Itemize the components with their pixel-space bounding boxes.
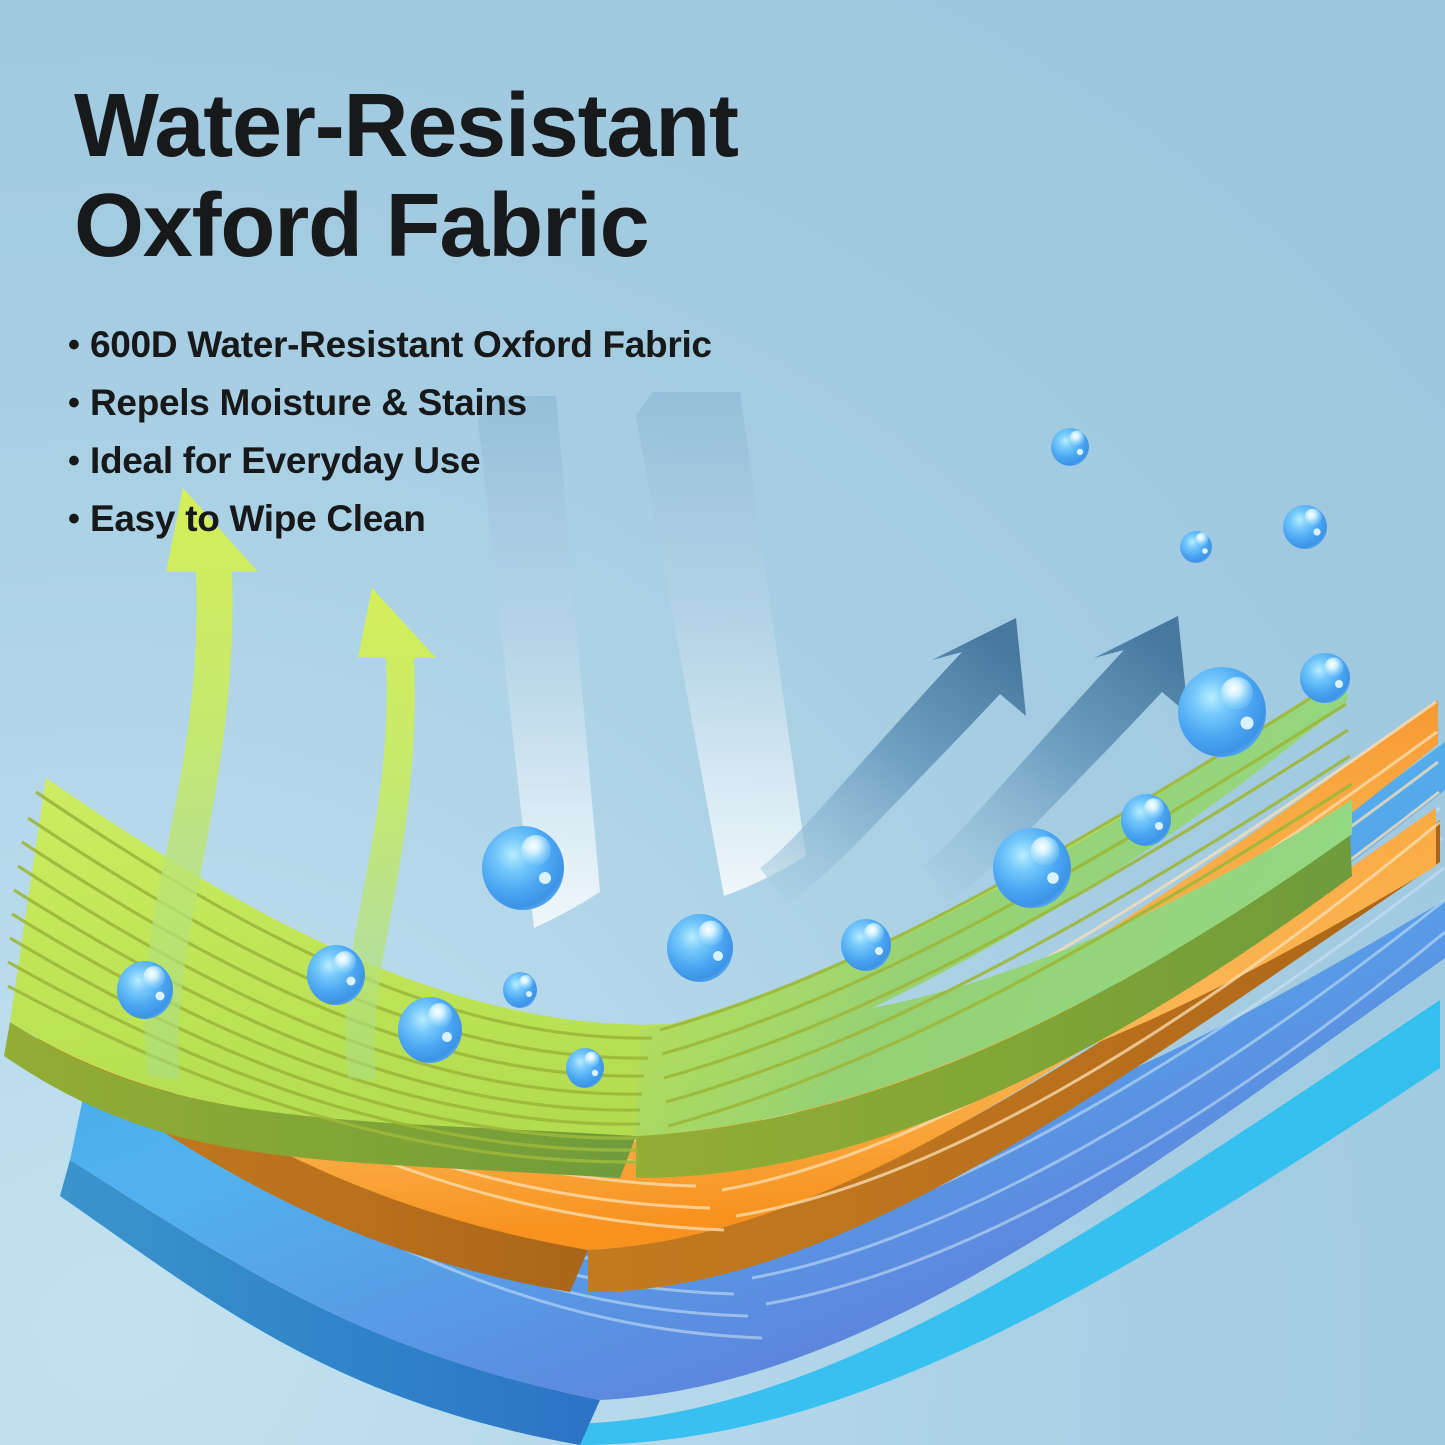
water-droplet xyxy=(117,961,173,1019)
list-item: • Repels Moisture & Stains xyxy=(68,383,968,441)
text-block: Water-Resistant Oxford Fabric • 600D Wat… xyxy=(0,0,1445,600)
water-droplet xyxy=(1178,667,1266,757)
list-item: • Ideal for Everyday Use xyxy=(68,441,968,499)
water-droplet xyxy=(841,919,891,971)
list-item: • 600D Water-Resistant Oxford Fabric xyxy=(68,325,968,383)
page-title: Water-Resistant Oxford Fabric xyxy=(74,76,974,276)
water-droplet xyxy=(566,1048,604,1088)
water-droplet xyxy=(398,997,462,1063)
water-droplet xyxy=(503,972,537,1008)
water-droplet xyxy=(1121,794,1171,846)
bullet-dot-icon: • xyxy=(68,499,90,539)
feature-label: Ideal for Everyday Use xyxy=(90,441,480,481)
feature-label: 600D Water-Resistant Oxford Fabric xyxy=(90,325,712,365)
water-droplet xyxy=(482,826,564,910)
feature-label: Easy to Wipe Clean xyxy=(90,499,426,539)
bullet-dot-icon: • xyxy=(68,441,90,481)
water-droplet xyxy=(667,914,733,982)
bullet-dot-icon: • xyxy=(68,325,90,365)
bullet-dot-icon: • xyxy=(68,383,90,423)
floating-bubble xyxy=(1300,653,1350,703)
water-droplet xyxy=(993,828,1071,908)
water-droplet xyxy=(307,945,365,1005)
feature-label: Repels Moisture & Stains xyxy=(90,383,527,423)
feature-list: • 600D Water-Resistant Oxford Fabric • R… xyxy=(68,325,968,557)
list-item: • Easy to Wipe Clean xyxy=(68,499,968,557)
infographic-canvas: Water-Resistant Oxford Fabric • 600D Wat… xyxy=(0,0,1445,1445)
